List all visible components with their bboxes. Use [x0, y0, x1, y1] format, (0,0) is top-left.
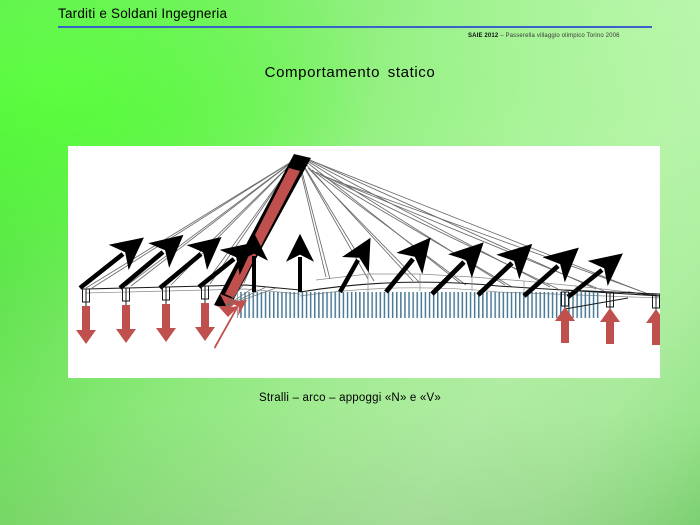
header-event-label: SAIE 2012 – Passerella villaggio olimpic… [468, 33, 620, 39]
header-divider-rule [58, 26, 652, 28]
figure-background [68, 146, 660, 378]
figure-panel [68, 146, 660, 378]
header-company-name: Tarditi e Soldani Ingegneria [58, 6, 227, 21]
cable-stayed-footbridge-force-diagram [68, 146, 660, 378]
header-event-description: – Passerella villaggio olimpico Torino 2… [498, 33, 619, 39]
ground-hatching [237, 292, 599, 318]
header-event-name: SAIE 2012 [468, 33, 498, 39]
slide-title: Comportamento statico [0, 64, 700, 81]
presentation-slide: Tarditi e Soldani Ingegneria SAIE 2012 –… [0, 0, 700, 525]
figure-caption: Stralli – arco – appoggi «N» e «V» [0, 392, 700, 404]
